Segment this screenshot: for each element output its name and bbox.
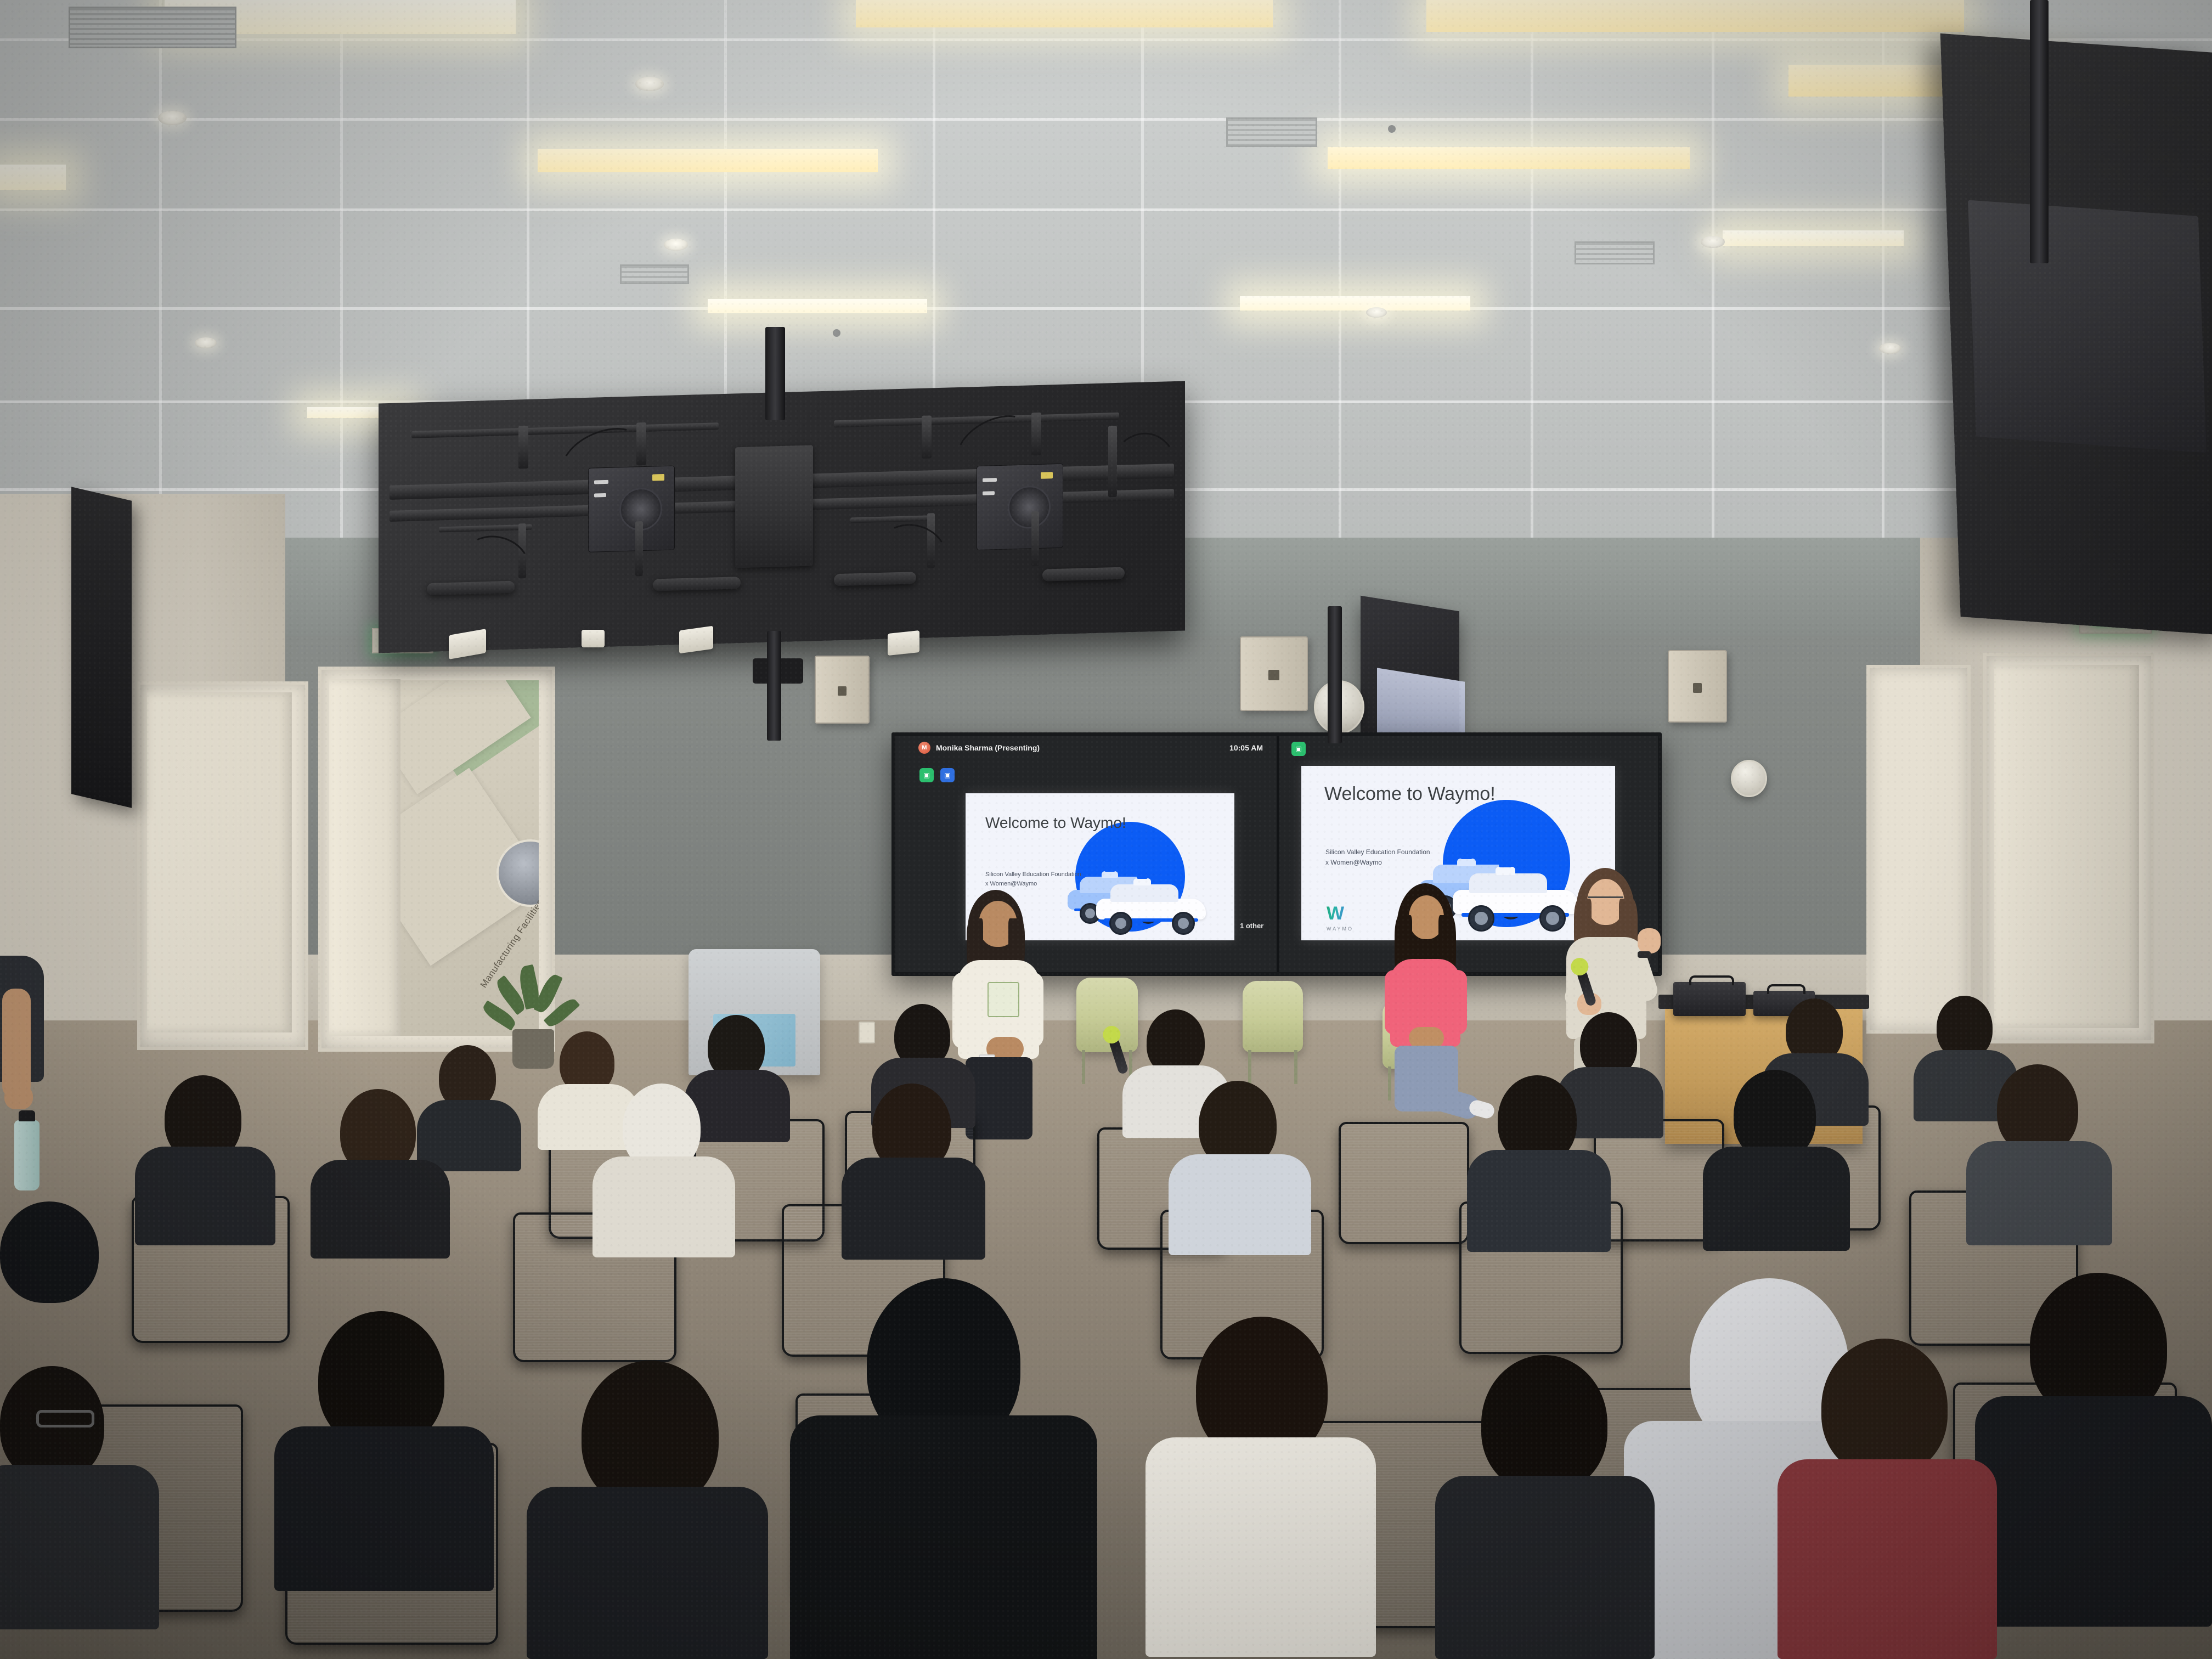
panelist-1-shirt-graphic xyxy=(988,982,1019,1017)
audience-chair[interactable] xyxy=(1339,1122,1469,1244)
standing-attendee-arm xyxy=(2,989,31,1098)
slide-left-subtitle-line2: x Women@Waymo xyxy=(985,879,1081,889)
ceiling-light-panel xyxy=(856,0,1273,27)
ceiling-light-panel xyxy=(1723,230,1904,246)
track-light xyxy=(679,626,713,654)
slide-right-subtitle-line2: x Women@Waymo xyxy=(1325,857,1430,868)
panelist-3-hand-gesture xyxy=(1638,928,1661,953)
audience-shoulders xyxy=(842,1158,985,1260)
ceiling-light-panel xyxy=(1328,147,1690,169)
audience-shoulders-hood xyxy=(790,1415,1097,1659)
presenter-avatar: M xyxy=(918,742,930,754)
presentation-room-photo: Manufacturing Facilities EXIT EXIT xyxy=(0,0,2212,1659)
slide-left-subtitle: Silicon Valley Education Foundation x Wo… xyxy=(985,870,1081,889)
wall-speaker xyxy=(815,656,870,724)
audience-shoulders xyxy=(1703,1147,1850,1251)
panelist-3-watch xyxy=(1638,951,1651,958)
sprinkler-head xyxy=(1388,125,1396,133)
screen-share-icon[interactable]: ▣ xyxy=(940,768,955,782)
track-light xyxy=(582,630,605,647)
water-bottle[interactable] xyxy=(14,1120,39,1190)
audience-head xyxy=(1481,1355,1607,1492)
plant-pot xyxy=(512,1029,554,1069)
slide-right-title: Welcome to Waymo! xyxy=(1324,783,1496,805)
waymo-car-white xyxy=(1096,881,1210,930)
wall-display-left xyxy=(71,487,132,808)
left-door-panel[interactable] xyxy=(329,679,400,1036)
panelist-2-arm xyxy=(1448,970,1467,1035)
wall-speaker xyxy=(1240,636,1308,711)
audience-shoulders xyxy=(592,1156,735,1257)
slide-right-subtitle: Silicon Valley Education Foundation x Wo… xyxy=(1325,847,1430,867)
ceiling-light-panel xyxy=(538,149,878,172)
ceiling-air-vent xyxy=(620,264,689,284)
recessed-downlight xyxy=(158,111,187,125)
audience-shoulders xyxy=(274,1426,494,1591)
presenter-name-chip: M Monika Sharma (Presenting) xyxy=(918,742,1040,754)
wall-display-right-screen xyxy=(1968,200,2207,453)
panel-chair[interactable] xyxy=(1243,981,1303,1052)
standing-attendee-hand xyxy=(4,1085,33,1109)
display-mount-pole-lower xyxy=(767,631,781,741)
audience-shoulders xyxy=(1169,1154,1311,1255)
wall-outlet xyxy=(859,1022,875,1043)
track-light xyxy=(888,630,919,656)
audience-shoulders xyxy=(1975,1396,2212,1627)
display-mount-pole-right-lower xyxy=(1328,606,1342,743)
audience-shoulders xyxy=(0,1465,159,1629)
ceiling-light-panel xyxy=(1426,0,1964,32)
rig-power-box xyxy=(735,445,813,568)
slide-right-subtitle-line1: Silicon Valley Education Foundation xyxy=(1325,847,1430,857)
recessed-downlight xyxy=(1701,236,1725,248)
audience-shoulders xyxy=(135,1147,275,1245)
recessed-downlight xyxy=(195,337,217,348)
panelist-1-arm xyxy=(1022,972,1043,1048)
dome-camera xyxy=(1731,760,1767,797)
left-secondary-door-panel[interactable] xyxy=(147,692,292,1032)
recessed-downlight xyxy=(664,239,688,251)
audience-shoulders xyxy=(1966,1141,2112,1245)
recessed-downlight xyxy=(1879,343,1901,354)
ceiling-light-panel xyxy=(0,165,66,190)
participant-count-label: 1 other xyxy=(1240,922,1263,930)
audience-shoulders xyxy=(1467,1150,1611,1252)
ceiling-air-vent xyxy=(69,7,236,48)
audience-shoulders xyxy=(311,1160,450,1259)
camera-icon[interactable]: ▣ xyxy=(1291,742,1306,756)
right-secondary-doorway-frame xyxy=(1866,665,1971,1034)
ceiling-light-panel xyxy=(708,299,927,313)
right-door-panel[interactable] xyxy=(1994,665,2139,1028)
audience-head-cap xyxy=(0,1201,99,1303)
audience-shoulders xyxy=(527,1487,768,1659)
waymo-logo-mark: W xyxy=(1327,904,1344,923)
slide-left-title: Welcome to Waymo! xyxy=(985,814,1126,832)
clock-label: 10:05 AM xyxy=(1229,743,1263,752)
ceiling-display-rig xyxy=(379,381,1185,653)
recessed-downlight xyxy=(635,77,664,91)
slide-left-subtitle-line1: Silicon Valley Education Foundation xyxy=(985,870,1081,879)
ceiling-light-panel xyxy=(1240,296,1470,311)
audience-shoulders xyxy=(1778,1459,1997,1659)
wall-speaker xyxy=(1668,650,1727,723)
panelist-2 xyxy=(1383,883,1487,1136)
panelist-3-glasses xyxy=(1588,896,1623,905)
display-mount-pole-center xyxy=(765,327,785,420)
rig-mount-plate xyxy=(977,464,1063,550)
presenter-name-label: Monika Sharma (Presenting) xyxy=(936,743,1040,752)
recessed-downlight xyxy=(1366,307,1387,318)
equipment-case xyxy=(1673,982,1746,1016)
waymo-logo-wordmark: WAYMO xyxy=(1327,926,1353,932)
camera-icon[interactable]: ▣ xyxy=(919,768,934,782)
ceiling-air-vent xyxy=(1226,117,1317,147)
wall-display-right xyxy=(1940,33,2212,636)
panelist-1-arm xyxy=(952,972,974,1049)
audience-head xyxy=(1821,1339,1948,1476)
panelist-2-arm xyxy=(1385,970,1403,1035)
audience-shoulders xyxy=(417,1100,521,1171)
sprinkler-head xyxy=(833,329,840,337)
audience-shoulders xyxy=(1435,1476,1655,1659)
display-mount-pole-right xyxy=(2030,0,2049,263)
panelist-1-legs xyxy=(966,1057,1032,1139)
video-conference-status-bar: M Monika Sharma (Presenting) 10:05 AM ▣ … xyxy=(895,736,1658,763)
ceiling-air-vent xyxy=(1575,241,1655,264)
audience-shoulders xyxy=(1145,1437,1376,1657)
eyeglasses xyxy=(36,1410,94,1427)
